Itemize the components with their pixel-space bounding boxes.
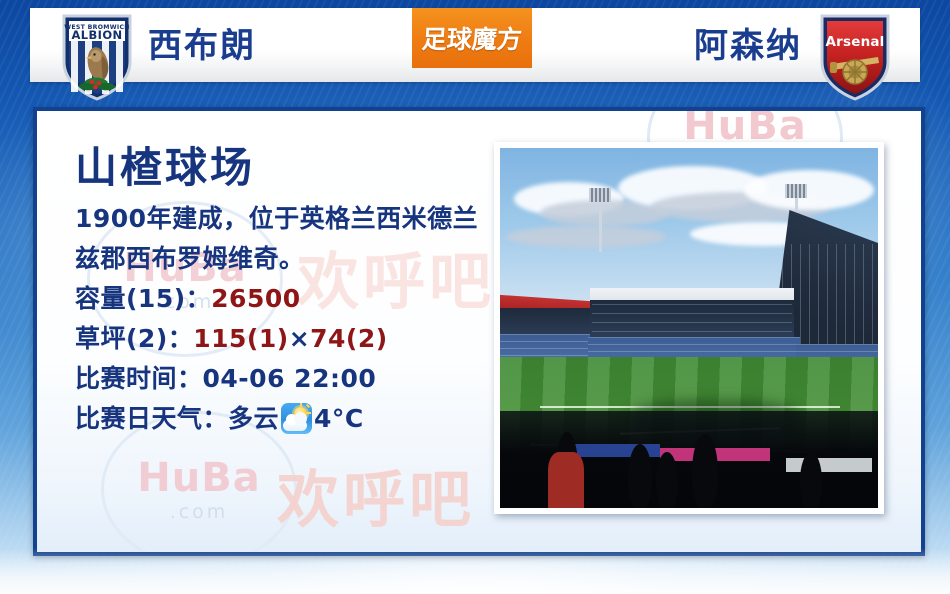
stadium-photo-frame[interactable]: WBA (494, 142, 884, 514)
photo-ad-board-white (786, 458, 872, 472)
watermark-domain-bottom: .com (170, 501, 229, 523)
weather-row: 比赛日天气：多云 4°C (75, 399, 485, 439)
photo-spectator-4 (692, 434, 718, 508)
photo-spectator-2 (628, 444, 652, 508)
photo-left-stand-dark (500, 308, 592, 336)
away-team-crest-icon: Arsenal (816, 12, 894, 100)
svg-text:ALBION: ALBION (71, 28, 122, 42)
match-header: WEST BROMWICH ALBION 西布朗 足球魔方 阿 (30, 8, 920, 82)
watermark-chinese-bottom: 欢呼吧 (277, 449, 475, 539)
home-team-crest-icon: WEST BROMWICH ALBION (58, 12, 136, 100)
capacity-value: 26500 (211, 284, 300, 313)
brand-logo[interactable]: 足球魔方 (412, 8, 532, 68)
photo-spectator-3 (656, 452, 678, 508)
weather-condition: 多云 (228, 404, 279, 433)
stadium-info-text: 山楂球场 1900年建成，位于英格兰西米德兰兹郡西布罗姆维奇。 容量(15)：2… (75, 143, 485, 439)
match-time-label: 比赛时间： (75, 364, 203, 393)
pitch-length: 115(1) (193, 324, 288, 353)
photo-spectator-5 (800, 452, 822, 508)
photo-main-stand-rails (592, 304, 792, 338)
match-time-row: 比赛时间：04-06 22:00 (75, 359, 485, 399)
watermark-word-bottom: HuBa (137, 455, 260, 501)
weather-temp: 4°C (314, 404, 364, 433)
pitch-separator: × (289, 324, 310, 353)
photo-right-stand-frame (782, 244, 878, 348)
floodlight-pylon-left (599, 196, 602, 252)
photo-spectator-red (548, 452, 584, 508)
stadium-info-panel: HuBa .com HuBa .com HuBa .com 欢呼吧 欢呼吧 山楂… (33, 107, 925, 556)
stadium-description: 1900年建成，位于英格兰西米德兰兹郡西布罗姆维奇。 (75, 199, 485, 279)
home-team-name: 西布朗 (148, 27, 256, 65)
photo-cloud-5 (744, 170, 874, 210)
brand-logo-text: 足球魔方 (421, 20, 524, 56)
floodlight-head-right (785, 184, 807, 198)
stadium-title: 山楂球场 (75, 143, 485, 193)
weather-icon-wrap (279, 403, 314, 434)
svg-text:Arsenal: Arsenal (825, 34, 884, 50)
partly-cloudy-icon (281, 403, 312, 434)
photo-cloud-6 (506, 226, 666, 248)
pitch-row: 草坪(2)：115(1)×74(2) (75, 319, 485, 359)
pitch-label: 草坪(2)： (75, 324, 193, 353)
capacity-label: 容量(15)： (75, 284, 211, 313)
page-root: WEST BROMWICH ALBION 西布朗 足球魔方 阿 (0, 0, 950, 594)
pitch-width: 74(2) (310, 324, 388, 353)
match-time-value: 04-06 22:00 (203, 364, 377, 393)
capacity-row: 容量(15)：26500 (75, 279, 485, 319)
away-team-name: 阿森纳 (694, 27, 802, 65)
weather-label: 比赛日天气： (75, 404, 228, 433)
floodlight-head-left (589, 188, 611, 202)
stadium-photo: WBA (500, 148, 878, 508)
